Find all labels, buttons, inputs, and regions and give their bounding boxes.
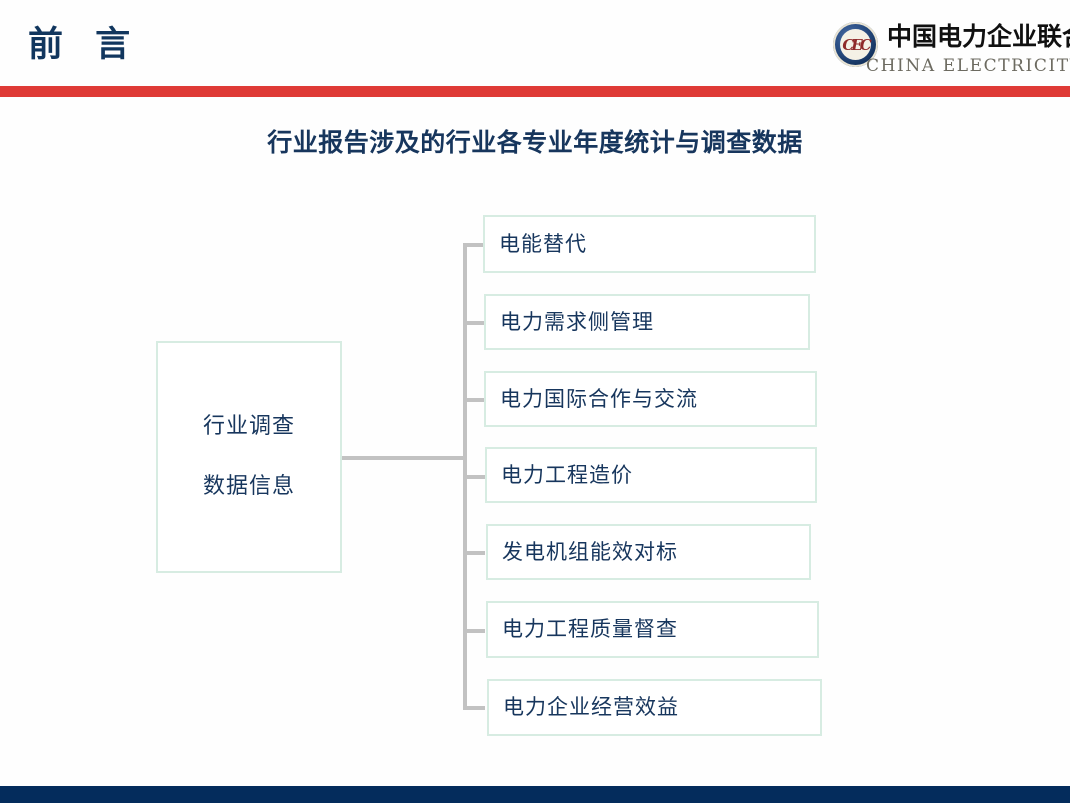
leaf-node-7-label: 电力企业经营效益 (489, 697, 679, 718)
leaf-node-5[interactable]: 发电机组能效对标 (486, 524, 811, 580)
connector-stub-2 (463, 321, 485, 325)
connector-stub-3 (463, 398, 485, 402)
footer-bar (0, 786, 1070, 803)
leaf-node-5-label: 发电机组能效对标 (488, 542, 678, 563)
connector-stub-6 (463, 629, 485, 633)
leaf-node-3[interactable]: 电力国际合作与交流 (484, 371, 817, 427)
leaf-node-4-label: 电力工程造价 (487, 465, 633, 486)
leaf-node-2-label: 电力需求侧管理 (486, 312, 654, 333)
connector-stub-7 (463, 706, 485, 710)
cec-seal-letters: CEC (833, 22, 878, 67)
org-chart-diagram: 行业调查 数据信息 电能替代 电力需求侧管理 电力国际合作与交流 电力工程造价 … (0, 0, 1070, 803)
leaf-node-6-label: 电力工程质量督查 (488, 619, 678, 640)
cec-seal-icon: CEC (833, 22, 878, 67)
leaf-node-3-label: 电力国际合作与交流 (486, 389, 698, 410)
leaf-node-7[interactable]: 电力企业经营效益 (487, 679, 822, 736)
root-node-label-line1: 行业调查 (203, 416, 295, 438)
leaf-node-4[interactable]: 电力工程造价 (485, 447, 817, 503)
slide-canvas: 前 言 CEC 中国电力企业联合会 CHINA ELECTRICITY COUN… (0, 0, 1070, 803)
connector-root-horizontal (342, 456, 467, 460)
connector-stub-1 (463, 243, 485, 247)
connector-stub-4 (463, 475, 485, 479)
leaf-node-1[interactable]: 电能替代 (483, 215, 816, 273)
root-node[interactable]: 行业调查 数据信息 (156, 341, 342, 573)
leaf-node-6[interactable]: 电力工程质量督查 (486, 601, 819, 658)
leaf-node-1-label: 电能替代 (485, 234, 587, 255)
leaf-node-2[interactable]: 电力需求侧管理 (484, 294, 810, 350)
root-node-label-line2: 数据信息 (203, 476, 295, 498)
connector-stub-5 (463, 551, 485, 555)
